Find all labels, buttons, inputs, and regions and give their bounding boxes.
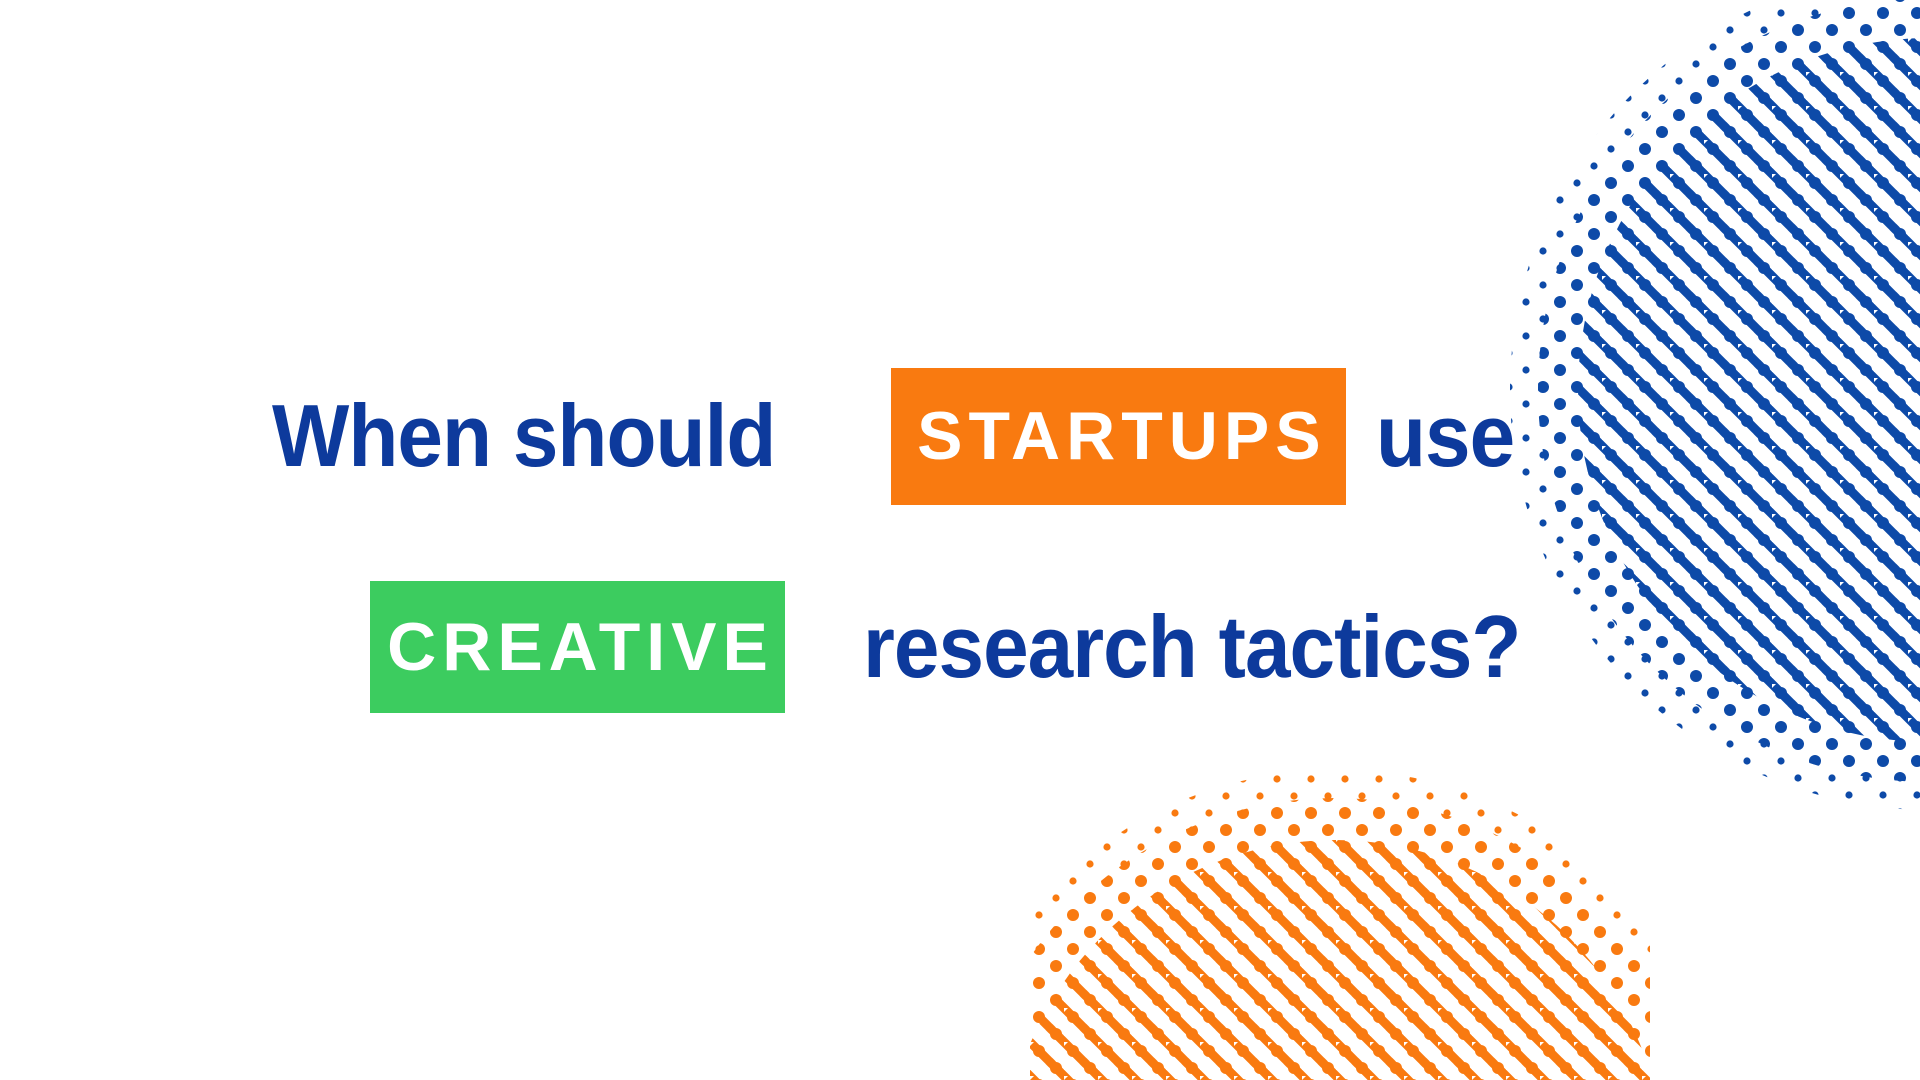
headline-text-before: When should [272,392,775,480]
headline: When should STARTUPS use CREATIVE resear… [0,0,1920,1080]
headline-text-after-1: use [1376,392,1514,480]
startups-badge: STARTUPS [891,368,1346,505]
slide-canvas: When should STARTUPS use CREATIVE resear… [0,0,1920,1080]
headline-text-after-2: research tactics? [863,603,1520,691]
headline-line-1: When should STARTUPS use [272,376,1525,496]
creative-badge: CREATIVE [370,581,785,713]
headline-line-2: CREATIVE research tactics? [370,580,1570,714]
